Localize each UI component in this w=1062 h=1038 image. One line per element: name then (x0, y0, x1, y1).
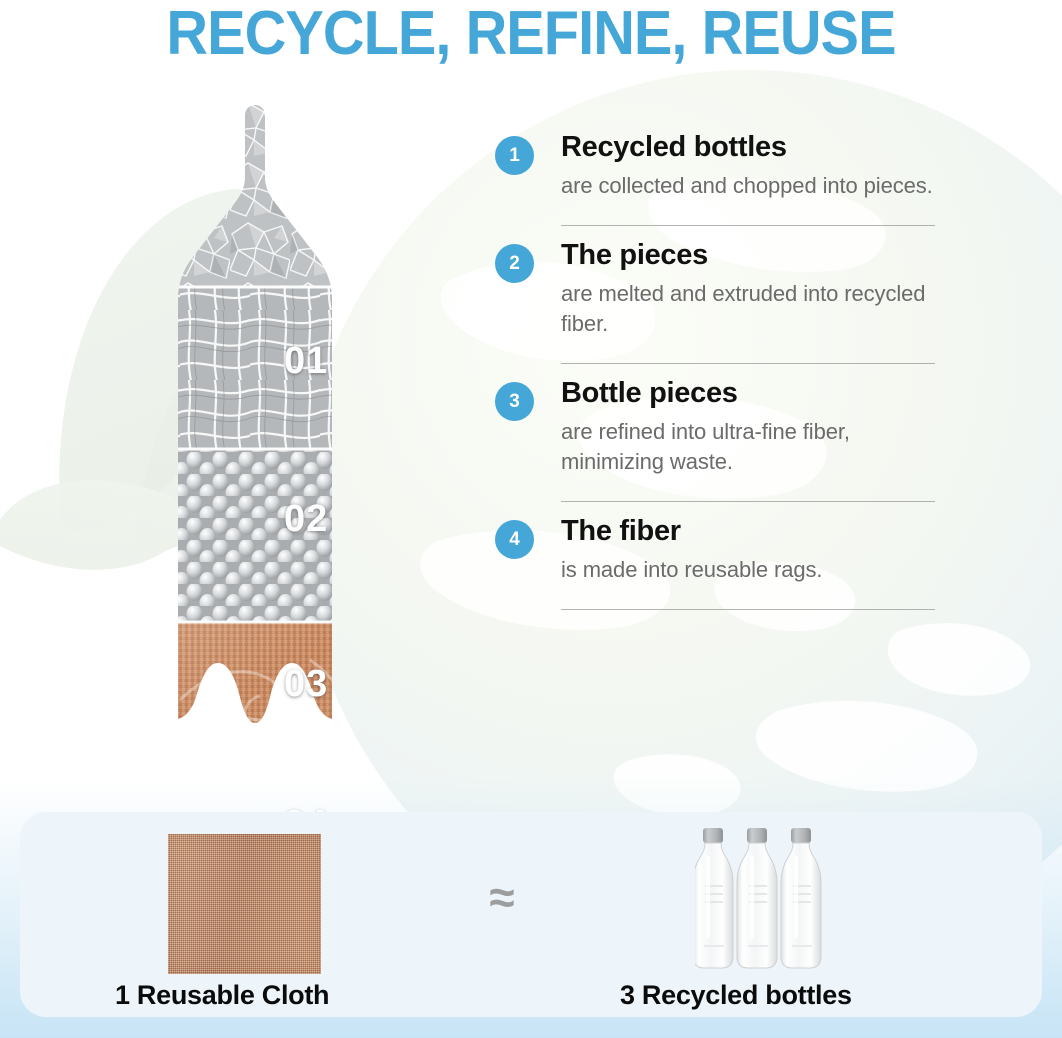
reusable-cloth-swatch-icon (168, 834, 321, 974)
recycled-bottles-icon (695, 826, 860, 978)
step-title-4: The fiber (561, 514, 935, 548)
three-bottles-icon (695, 826, 860, 978)
step-badge-4: 4 (495, 520, 534, 559)
bottle-illustration: 01 02 03 04 (110, 100, 410, 800)
step-title-3: Bottle pieces (561, 376, 935, 410)
step-description-1: are collected and chopped into pieces. (561, 171, 935, 201)
step-badge-3: 3 (495, 382, 534, 421)
header: RECYCLE, REFINE, REUSE (0, 0, 1062, 66)
step-title-2: The pieces (561, 238, 935, 272)
step-block-1: 1 Recycled bottles are collected and cho… (495, 130, 935, 226)
infographic-canvas: RECYCLE, REFINE, REUSE (0, 0, 1062, 1038)
bottles-label: 3 Recycled bottles (620, 980, 852, 1011)
step-item-1: 1 Recycled bottles are collected and cho… (495, 130, 935, 209)
step-description-3: are refined into ultra-fine fiber, minim… (561, 417, 935, 477)
approximately-equal-icon: ≈ (472, 874, 532, 920)
process-steps-list: 1 Recycled bottles are collected and cho… (495, 130, 935, 622)
step-block-4: 4 The fiber is made into reusable rags. (495, 514, 935, 610)
step-block-2: 2 The pieces are melted and extruded int… (495, 238, 935, 364)
equivalence-card: ≈ (20, 812, 1042, 1017)
equivalence-labels: 1 Reusable Cloth 3 Recycled bottles (20, 980, 1042, 1020)
step-badge-2: 2 (495, 244, 534, 283)
step-description-2: are melted and extruded into recycled fi… (561, 279, 935, 339)
step-item-4: 4 The fiber is made into reusable rags. (495, 514, 935, 593)
page-title: RECYCLE, REFINE, REUSE (37, 0, 1025, 66)
step-divider-3 (561, 501, 935, 502)
step-title-1: Recycled bottles (561, 130, 935, 164)
step-item-3: 3 Bottle pieces are refined into ultra-f… (495, 376, 935, 485)
step-badge-1: 1 (495, 136, 534, 175)
step-block-3: 3 Bottle pieces are refined into ultra-f… (495, 376, 935, 502)
step-item-2: 2 The pieces are melted and extruded int… (495, 238, 935, 347)
cloth-label: 1 Reusable Cloth (115, 980, 329, 1011)
step-divider-4 (561, 609, 935, 610)
step-divider-2 (561, 363, 935, 364)
step-divider-1 (561, 225, 935, 226)
segmented-bottle-icon (110, 100, 410, 800)
step-description-4: is made into reusable rags. (561, 555, 935, 585)
